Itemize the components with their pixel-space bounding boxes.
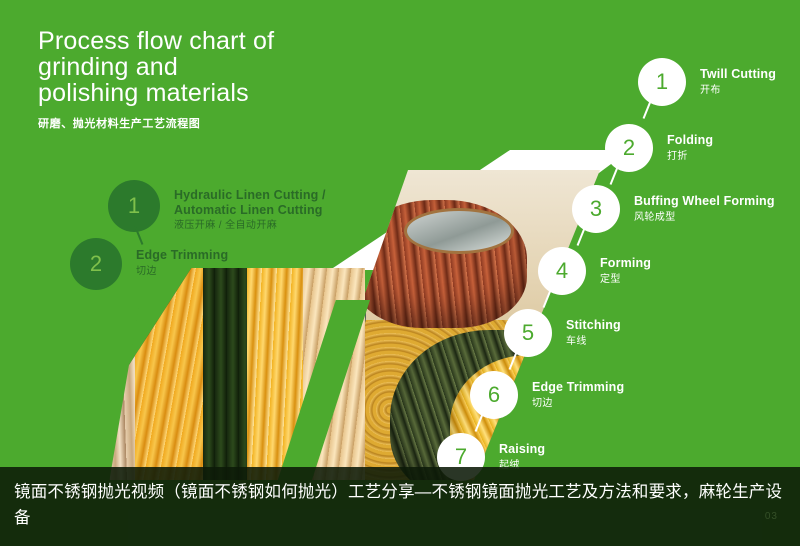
page-number: 03 — [765, 504, 778, 530]
step-right-2-label-en: Folding — [667, 133, 713, 148]
step-left-1-labels: Hydraulic Linen Cutting / Automatic Line… — [174, 180, 326, 233]
page-subtitle: 研磨、抛光材料生产工艺流程图 — [38, 115, 458, 131]
step-right-1-label-cn: 开布 — [700, 84, 776, 98]
step-right-1-bubble[interactable]: 1 — [638, 58, 686, 106]
step-left-1-label-cn: 液压开麻 / 全自动开麻 — [174, 219, 326, 233]
step-left-2-bubble[interactable]: 2 — [70, 238, 122, 290]
step-left-1[interactable]: 1 Hydraulic Linen Cutting / Automatic Li… — [108, 180, 326, 233]
step-right-4-labels: Forming 定型 — [600, 247, 651, 287]
step-right-1-tail — [643, 100, 652, 119]
step-right-6-bubble[interactable]: 6 — [470, 371, 518, 419]
step-left-1-number: 1 — [128, 195, 140, 217]
step-right-1-number: 1 — [656, 71, 668, 93]
caption-text: 镜面不锈钢抛光视频（镜面不锈钢如何抛光）工艺分享—不锈钢镜面抛光工艺及方法和要求… — [14, 483, 782, 527]
step-right-5-number: 5 — [522, 322, 534, 344]
step-right-2-bubble[interactable]: 2 — [605, 124, 653, 172]
step-right-4[interactable]: 4 Forming 定型 — [538, 247, 651, 295]
step-right-2-number: 2 — [623, 137, 635, 159]
step-right-5-bubble[interactable]: 5 — [504, 309, 552, 357]
step-right-3-label-en: Buffing Wheel Forming — [634, 194, 775, 209]
step-right-4-bubble[interactable]: 4 — [538, 247, 586, 295]
step-left-2-label-cn: 切边 — [136, 265, 228, 279]
step-right-2-label-cn: 打折 — [667, 150, 713, 164]
slide-canvas: Process flow chart of grinding and polis… — [0, 0, 800, 546]
step-right-5-label-en: Stitching — [566, 318, 621, 333]
photo-brush-metal-ring — [404, 208, 514, 254]
step-right-6-labels: Edge Trimming 切边 — [532, 371, 624, 411]
slide-header: Process flow chart of grinding and polis… — [38, 28, 458, 131]
step-right-4-label-cn: 定型 — [600, 273, 651, 287]
step-right-5-label-cn: 车线 — [566, 335, 621, 349]
step-right-3[interactable]: 3 Buffing Wheel Forming 风轮成型 — [572, 185, 775, 233]
step-right-7-label-en: Raising — [499, 442, 545, 457]
photo-red-brush-wheel — [352, 200, 527, 328]
step-right-6-label-en: Edge Trimming — [532, 380, 624, 395]
step-right-4-label-en: Forming — [600, 256, 651, 271]
step-left-2-number: 2 — [90, 253, 102, 275]
caption-overlay: 镜面不锈钢抛光视频（镜面不锈钢如何抛光）工艺分享—不锈钢镜面抛光工艺及方法和要求… — [0, 467, 800, 546]
step-right-5[interactable]: 5 Stitching 车线 — [504, 309, 621, 357]
step-left-2-labels: Edge Trimming 切边 — [136, 238, 228, 279]
step-right-3-number: 3 — [590, 198, 602, 220]
step-right-5-labels: Stitching 车线 — [566, 309, 621, 349]
step-right-6[interactable]: 6 Edge Trimming 切边 — [470, 371, 624, 419]
step-right-2-labels: Folding 打折 — [667, 124, 713, 164]
step-right-1[interactable]: 1 Twill Cutting 开布 — [638, 58, 776, 106]
step-left-2[interactable]: 2 Edge Trimming 切边 — [70, 238, 228, 290]
step-right-6-number: 6 — [488, 384, 500, 406]
step-right-6-label-cn: 切边 — [532, 397, 624, 411]
step-right-3-label-cn: 风轮成型 — [634, 211, 775, 225]
page-title: Process flow chart of grinding and polis… — [38, 28, 458, 106]
photo-strip-green — [203, 268, 251, 480]
step-left-1-bubble[interactable]: 1 — [108, 180, 160, 232]
step-right-4-number: 4 — [556, 260, 568, 282]
step-left-2-label-en: Edge Trimming — [136, 248, 228, 263]
step-right-1-labels: Twill Cutting 开布 — [700, 58, 776, 98]
step-right-2[interactable]: 2 Folding 打折 — [605, 124, 713, 172]
step-right-1-label-en: Twill Cutting — [700, 67, 776, 82]
photo-strip-orange — [135, 268, 205, 480]
step-right-3-labels: Buffing Wheel Forming 风轮成型 — [634, 185, 775, 225]
step-left-1-label-en: Hydraulic Linen Cutting / Automatic Line… — [174, 188, 326, 217]
step-right-7-number: 7 — [455, 446, 467, 468]
step-right-3-bubble[interactable]: 3 — [572, 185, 620, 233]
